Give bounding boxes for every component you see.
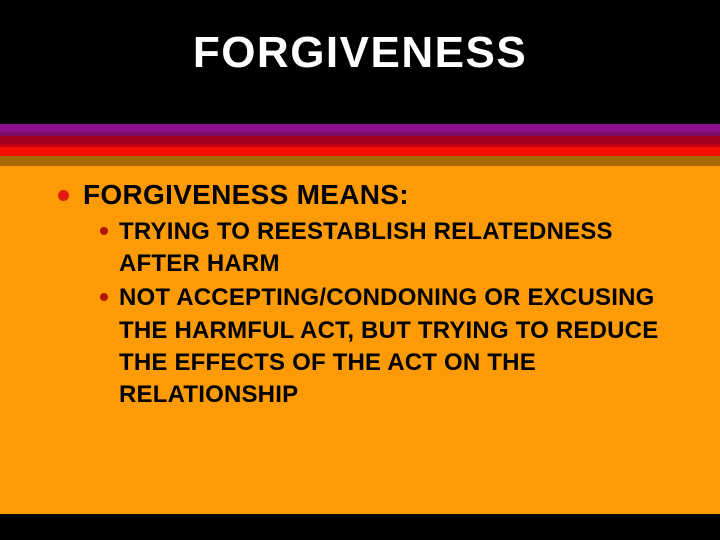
list-item: FORGIVENESS MEANS: xyxy=(0,178,720,212)
olive-stripe xyxy=(0,156,720,166)
list-item: NOT ACCEPTING/CONDONING OR EXCUSING THE … xyxy=(0,282,720,411)
bullet-text-level1: FORGIVENESS MEANS: xyxy=(83,178,409,212)
slide-title-band: FORGIVENESS xyxy=(0,0,720,124)
maroon-stripe xyxy=(0,136,720,144)
presentation-slide: FORGIVENESS FORGIVENESS MEANS: TRYING TO… xyxy=(0,0,720,540)
slide-bottom-bar xyxy=(0,514,720,540)
bullet-text-level2: TRYING TO REESTABLISH RELATEDNESS AFTER … xyxy=(119,216,659,280)
bullet-dot-icon xyxy=(58,190,69,201)
slide-content-list: FORGIVENESS MEANS: TRYING TO REESTABLISH… xyxy=(0,166,720,413)
red-stripe xyxy=(0,147,720,156)
bullet-dot-icon xyxy=(100,227,108,235)
decorative-stripe-band xyxy=(0,124,720,166)
bullet-dot-icon xyxy=(100,293,108,301)
slide-body-panel: FORGIVENESS MEANS: TRYING TO REESTABLISH… xyxy=(0,166,720,514)
slide-title: FORGIVENESS xyxy=(0,0,720,124)
list-item: TRYING TO REESTABLISH RELATEDNESS AFTER … xyxy=(0,216,720,280)
purple-stripe xyxy=(0,124,720,132)
bullet-text-level2: NOT ACCEPTING/CONDONING OR EXCUSING THE … xyxy=(119,282,659,411)
